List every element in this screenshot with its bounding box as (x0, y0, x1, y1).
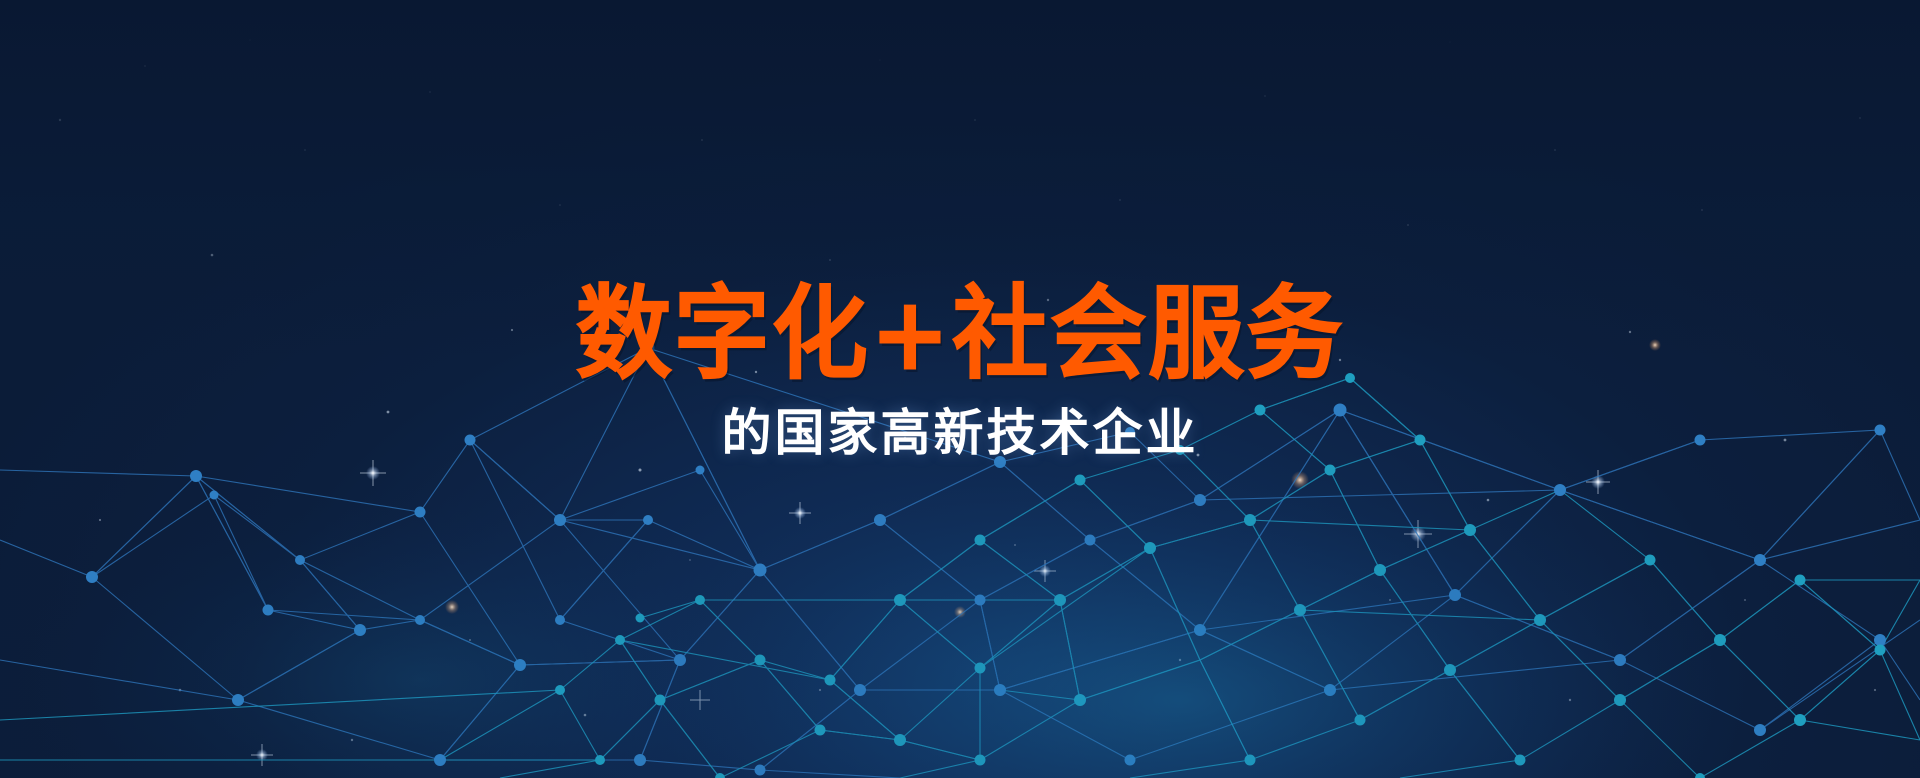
banner-subheadline: 的国家高新技术企业 (722, 408, 1199, 458)
banner-content: 数字化+社会服务 的国家高新技术企业 (0, 0, 1920, 778)
hero-banner: 数字化+社会服务 的国家高新技术企业 (0, 0, 1920, 778)
banner-headline: 数字化+社会服务 (576, 283, 1344, 385)
